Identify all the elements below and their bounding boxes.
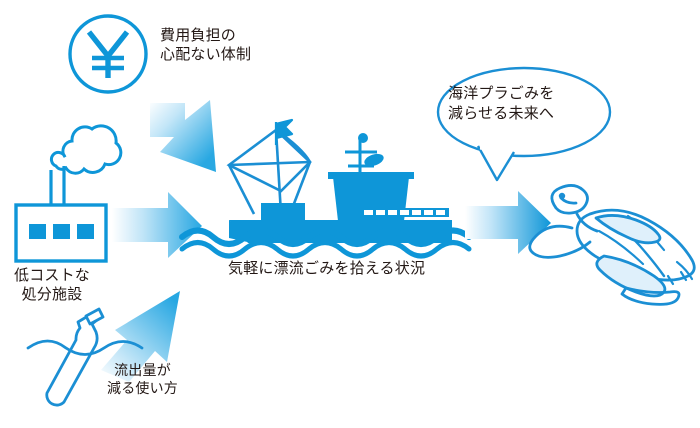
label-reduced-outflow: 流出量が 減る使い方 xyxy=(107,363,178,399)
label-speech-bubble-text: 海洋プラごみを 減らせる未来へ xyxy=(448,84,554,123)
diagram-graphics xyxy=(0,0,700,428)
arrow-right-icon-middle xyxy=(112,192,202,258)
label-low-cost-facility: 低コストな 処分施設 xyxy=(14,266,90,304)
infographic-canvas: 費用負担の 心配ない体制 低コストな 処分施設 流出量が 減る使い方 気軽に漂流… xyxy=(0,0,700,428)
factory-icon xyxy=(16,126,121,261)
label-ship-caption: 気軽に漂流ごみを拾える状況 xyxy=(228,259,425,278)
yen-circle-icon xyxy=(70,16,146,92)
arrow-right-icon-end xyxy=(465,191,551,254)
plastic-bottle-icon xyxy=(47,309,103,405)
sea-turtle-icon xyxy=(530,185,695,304)
fishing-ship-icon xyxy=(229,120,452,243)
arrow-down-right-icon xyxy=(150,100,216,172)
label-fee-burden: 費用負担の 心配ない体制 xyxy=(160,26,251,64)
